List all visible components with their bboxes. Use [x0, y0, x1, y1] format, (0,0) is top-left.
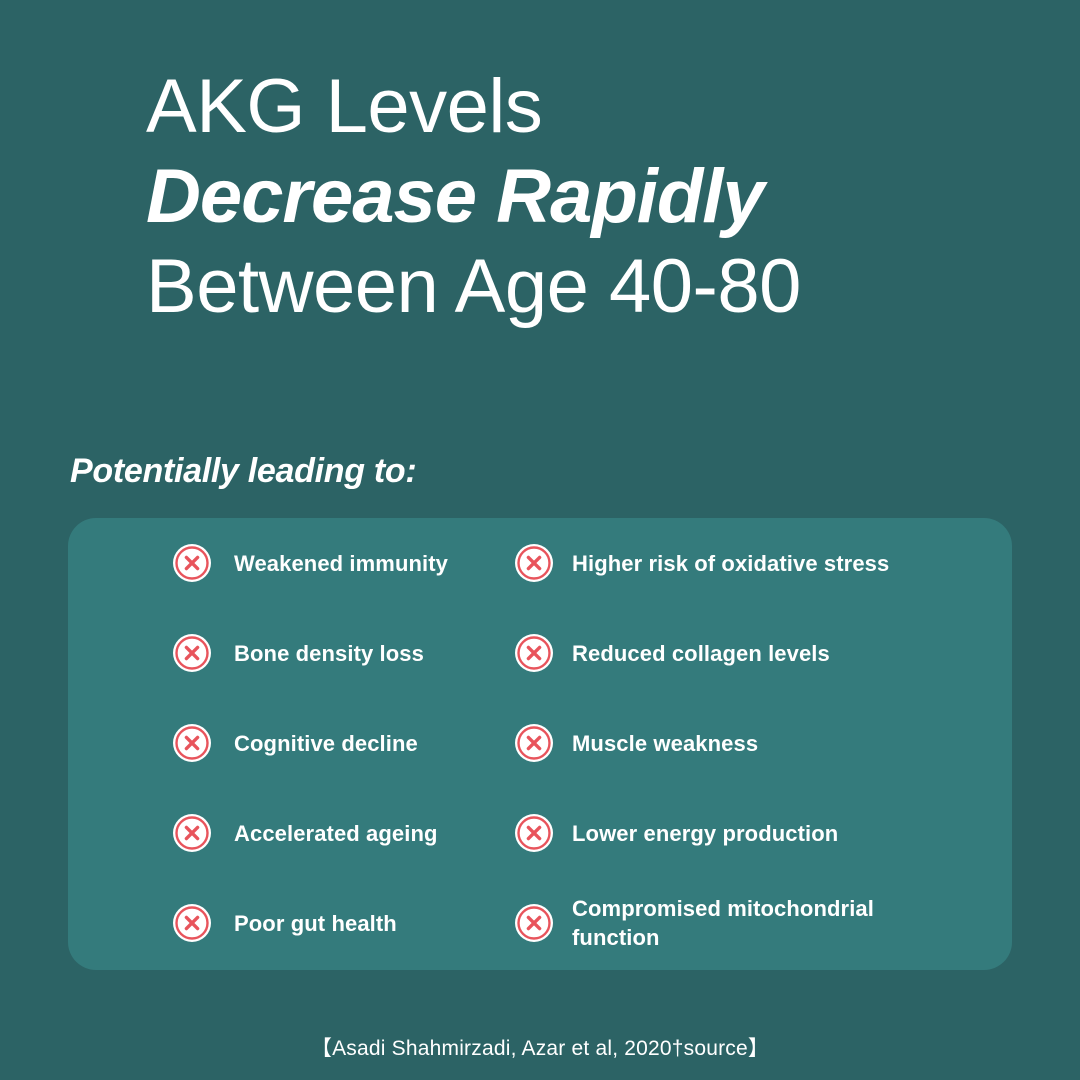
list-item-label: Compromised mitochondrial function — [572, 894, 902, 952]
list-item-label: Accelerated ageing — [234, 819, 438, 848]
list-item: Reduced collagen levels — [514, 608, 1012, 698]
list-item: Muscle weakness — [514, 698, 1012, 788]
list-item-label: Cognitive decline — [234, 729, 418, 758]
list-item-label: Higher risk of oxidative stress — [572, 549, 889, 578]
circle-x-icon — [172, 543, 212, 583]
circle-x-icon — [514, 633, 554, 673]
page-title: AKG Levels Decrease Rapidly Between Age … — [146, 62, 1046, 332]
circle-x-icon — [514, 723, 554, 763]
effects-column-right: Higher risk of oxidative stress Reduced … — [440, 518, 1012, 970]
subheading: Potentially leading to: — [70, 452, 416, 491]
circle-x-icon — [514, 813, 554, 853]
headline-line-2: Decrease Rapidly — [146, 152, 1046, 242]
circle-x-icon — [172, 633, 212, 673]
list-item-label: Muscle weakness — [572, 729, 758, 758]
list-item-label: Bone density loss — [234, 639, 424, 668]
circle-x-icon — [172, 903, 212, 943]
list-item: Bone density loss — [172, 608, 440, 698]
list-item: Weakened immunity — [172, 518, 440, 608]
list-item: Accelerated ageing — [172, 788, 440, 878]
effects-columns: Weakened immunity Bone density loss — [68, 518, 1012, 970]
headline-line-1: AKG Levels — [146, 62, 1046, 152]
list-item: Poor gut health — [172, 878, 440, 968]
effects-card: Weakened immunity Bone density loss — [68, 518, 1012, 970]
circle-x-icon — [172, 813, 212, 853]
list-item-label: Reduced collagen levels — [572, 639, 830, 668]
list-item: Cognitive decline — [172, 698, 440, 788]
circle-x-icon — [514, 543, 554, 583]
circle-x-icon — [172, 723, 212, 763]
effects-column-left: Weakened immunity Bone density loss — [68, 518, 440, 970]
list-item: Compromised mitochondrial function — [514, 878, 1012, 968]
list-item: Lower energy production — [514, 788, 1012, 878]
list-item: Higher risk of oxidative stress — [514, 518, 1012, 608]
list-item-label: Lower energy production — [572, 819, 838, 848]
list-item-label: Weakened immunity — [234, 549, 448, 578]
list-item-label: Poor gut health — [234, 909, 397, 938]
circle-x-icon — [514, 903, 554, 943]
source-citation: 【Asadi Shahmirzadi, Azar et al, 2020†sou… — [0, 1032, 1080, 1062]
headline-line-3: Between Age 40-80 — [146, 242, 1046, 332]
